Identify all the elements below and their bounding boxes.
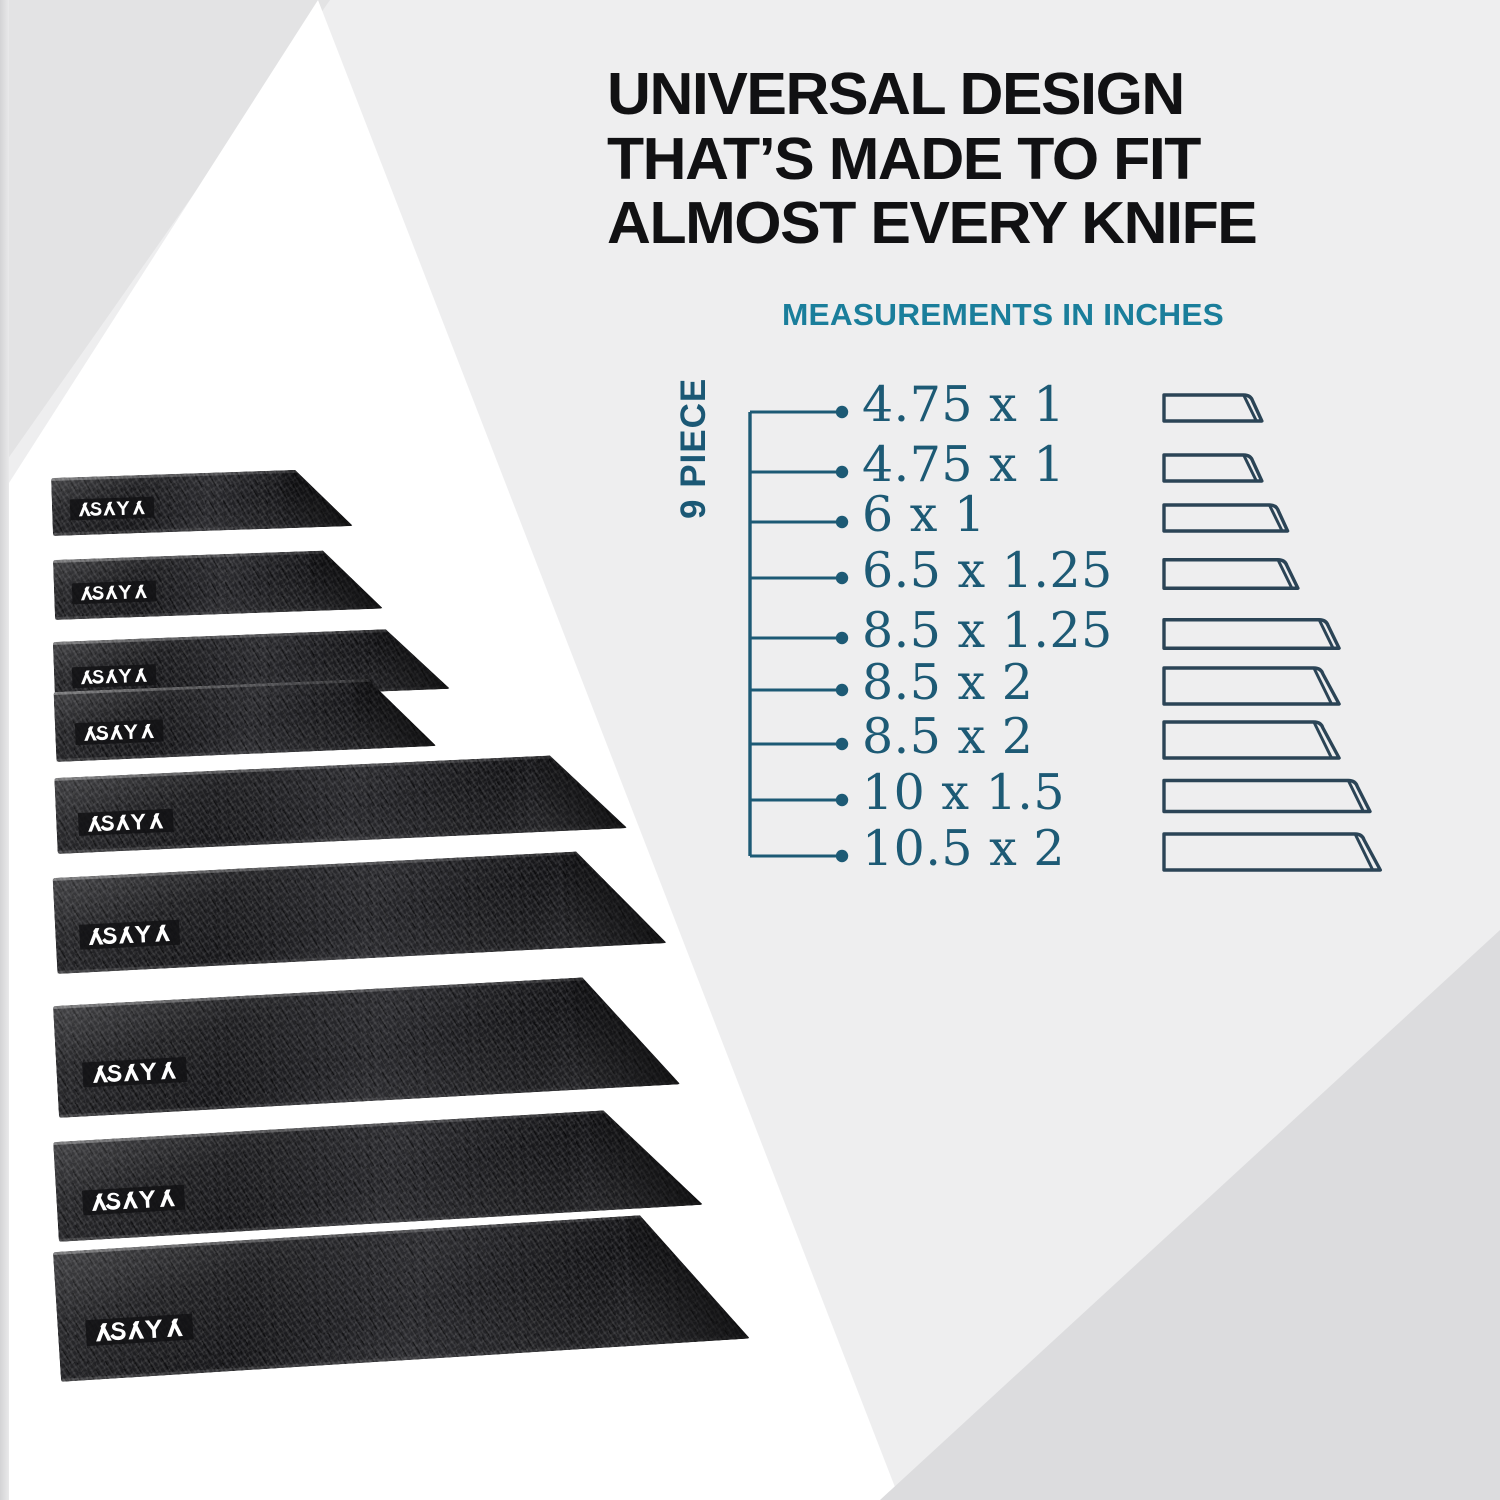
product-sheath-7: [53, 972, 680, 1117]
tip-shadow: [536, 752, 627, 832]
leader-dot-3: [836, 516, 848, 528]
sheath-outline-diagrams: [1160, 352, 1490, 882]
page-title: UNIVERSAL DESIGN THAT’S MADE TO FIT ALMO…: [607, 62, 1421, 256]
headline-line-1: UNIVERSAL DESIGN: [607, 62, 1421, 127]
asaya-logo: [72, 664, 157, 688]
leader-dot-8: [836, 794, 848, 806]
leader-dot-7: [836, 738, 848, 750]
asaya-logo: [72, 580, 157, 604]
leader-dot-6: [836, 684, 848, 696]
sheath-outline-8: [1164, 781, 1370, 812]
sheath-outline-1: [1164, 395, 1262, 421]
tip-shadow: [626, 1209, 750, 1346]
sheath-outline-5: [1164, 620, 1339, 649]
measurement-label-2: 4.75 x 1: [862, 436, 1065, 493]
leader-dot-5: [836, 632, 848, 644]
sheath-outline-7: [1164, 722, 1339, 758]
asaya-wordmark-icon: [86, 922, 173, 947]
product-sheath-6: [53, 847, 667, 974]
asaya-wordmark-icon: [77, 499, 148, 518]
asaya-wordmark-icon: [79, 666, 150, 686]
tip-shadow: [372, 627, 450, 692]
headline-line-2: THAT’S MADE TO FIT: [607, 127, 1421, 192]
sheath-outline-9: [1164, 834, 1380, 870]
infographic-canvas: UNIVERSAL DESIGN THAT’S MADE TO FIT ALMO…: [0, 0, 1500, 1500]
tip-shadow: [281, 468, 353, 528]
product-sheath-2: [53, 549, 383, 620]
measurement-label-3: 6 x 1: [862, 486, 986, 543]
measurement-label-8: 10 x 1.5: [862, 764, 1065, 821]
outline-svg: [1160, 352, 1490, 882]
subheading: MEASUREMENTS IN INCHES: [782, 297, 1224, 333]
leader-dot-9: [836, 850, 848, 862]
headline-line-3: ALMOST EVERY KNIFE: [607, 191, 1421, 256]
sheath-outline-4: [1164, 560, 1298, 589]
measurement-label-1: 4.75 x 1: [862, 376, 1065, 433]
measurement-label-9: 10.5 x 2: [862, 820, 1065, 877]
asaya-logo: [75, 719, 164, 745]
asaya-wordmark-icon: [89, 1059, 180, 1085]
piece-count-label: 9 PIECE: [672, 309, 716, 519]
measurement-label-7: 8.5 x 2: [862, 708, 1033, 765]
tip-shadow: [562, 847, 667, 948]
tip-shadow: [589, 1105, 703, 1211]
measurement-list: 4.75 x 14.75 x 16 x 16.5 x 1.258.5 x 1.2…: [862, 350, 1162, 880]
asaya-wordmark-icon: [92, 1316, 186, 1344]
tip-shadow: [309, 549, 383, 611]
measurement-label-4: 6.5 x 1.25: [862, 542, 1113, 599]
asaya-logo: [79, 920, 180, 950]
tip-shadow: [568, 972, 680, 1090]
measurement-label-5: 8.5 x 1.25: [862, 602, 1113, 659]
sheath-outline-3: [1164, 505, 1288, 531]
sheath-outline-6: [1164, 668, 1339, 704]
asaya-logo: [78, 809, 174, 836]
leader-dot-1: [836, 406, 848, 418]
product-sheath-1: [51, 468, 353, 536]
leader-dot-2: [836, 466, 848, 478]
asaya-wordmark-icon: [82, 722, 157, 743]
leader-dot-4: [836, 572, 848, 584]
product-photo-stack: [0, 430, 790, 1440]
asaya-wordmark-icon: [79, 583, 150, 602]
asaya-wordmark-icon: [85, 811, 167, 834]
asaya-logo: [70, 497, 155, 521]
measurement-label-6: 8.5 x 2: [862, 654, 1033, 711]
asaya-wordmark-icon: [89, 1187, 178, 1213]
product-sheath-5: [54, 752, 627, 854]
sheath-outline-2: [1164, 455, 1262, 481]
